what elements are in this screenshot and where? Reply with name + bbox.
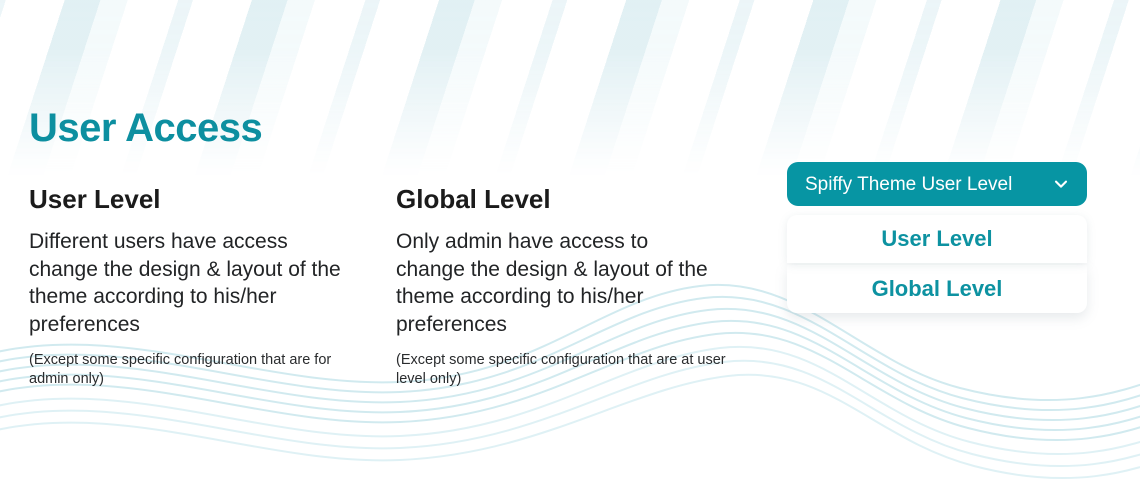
- column-note-text: (Except some specific configuration that…: [396, 351, 726, 388]
- column-heading: Global Level: [396, 185, 746, 214]
- user-level-dropdown[interactable]: Spiffy Theme User Level User Level Globa…: [787, 162, 1087, 313]
- column-global-level: Global Level Only admin have access to c…: [396, 185, 746, 388]
- slide-canvas: User Access User Level Different users h…: [0, 0, 1140, 500]
- page-title: User Access: [29, 108, 262, 148]
- dropdown-selected-label: Spiffy Theme User Level: [805, 175, 1012, 194]
- dropdown-option-user-level[interactable]: User Level: [787, 215, 1087, 263]
- dropdown-toggle-button[interactable]: Spiffy Theme User Level: [787, 162, 1087, 206]
- slide-content: User Access User Level Different users h…: [0, 0, 1140, 500]
- column-note-text: (Except some specific configuration that…: [29, 351, 359, 388]
- dropdown-option-list: User Level Global Level: [787, 215, 1087, 313]
- column-body-text: Only admin have access to change the des…: [396, 228, 716, 340]
- column-user-level: User Level Different users have access c…: [29, 185, 379, 388]
- dropdown-option-label: User Level: [881, 226, 992, 252]
- dropdown-option-label: Global Level: [872, 276, 1003, 302]
- dropdown-option-global-level[interactable]: Global Level: [787, 265, 1087, 313]
- column-heading: User Level: [29, 185, 379, 214]
- chevron-down-icon[interactable]: [1051, 174, 1071, 194]
- column-body-text: Different users have access change the d…: [29, 228, 349, 340]
